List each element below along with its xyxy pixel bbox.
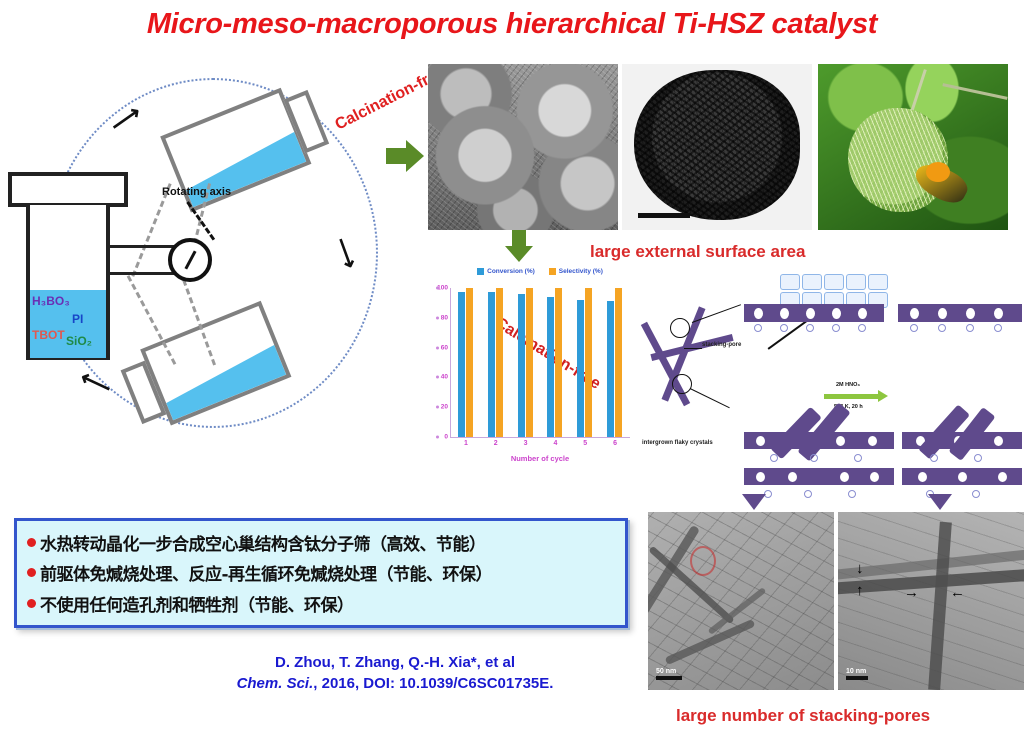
chart-bar-selectivity	[615, 288, 622, 437]
list-item: 不使用任何造孔剂和牺牲剂（节能、环保）	[27, 591, 615, 616]
tem-micrograph-hollow-nest	[622, 64, 812, 230]
chart-bar-group	[518, 288, 533, 437]
graphical-abstract: Micro-meso-macroporous hierarchical Ti-H…	[0, 0, 1024, 736]
rotating-axis-label: Rotating axis	[162, 186, 231, 198]
citation-details: , 2016, DOI: 10.1039/C6SC01735E.	[313, 675, 553, 692]
citation-journal: Chem. Sci.	[237, 675, 314, 692]
chevron-down-left-icon	[742, 494, 766, 510]
chart-plot-area: 020406080100123456	[450, 288, 630, 438]
chart-ytick-dot	[436, 346, 439, 349]
chart-bar-conversion	[458, 292, 465, 437]
tem-scale-bar	[638, 213, 690, 218]
legend-label-conversion: Conversion (%)	[487, 268, 535, 275]
tem-left-scale-bar	[656, 676, 682, 680]
chart-xtick-label: 5	[583, 440, 587, 447]
reagent-label-pi: PI	[72, 312, 83, 326]
citation-source: Chem. Sci., 2016, DOI: 10.1039/C6SC01735…	[150, 673, 640, 694]
reagent-label-sio2: SiO₂	[66, 334, 92, 348]
chart-ytick-label: 20	[441, 404, 448, 411]
bullet-dot-icon	[27, 599, 36, 608]
chart-ytick-label: 60	[441, 344, 448, 351]
reagent-reactor: H₃BO₃ PI TBOT SiO₂	[8, 172, 128, 362]
chart-bar-selectivity	[466, 288, 473, 437]
highlight-text-1: 水热转动晶化一步合成空心巢结构含钛分子筛（高效、节能）	[40, 530, 486, 555]
chevron-down-right-icon	[928, 494, 952, 510]
chart-ytick-label: 40	[441, 374, 448, 381]
weaver-bird-nest-photo	[818, 64, 1008, 230]
chart-bar-group	[488, 288, 503, 437]
bullet-dot-icon	[27, 568, 36, 577]
rotary-crystallization-schematic: ⟶ ⟶ ⟶ Rotating axis H₃BO₃	[0, 60, 420, 510]
rotating-axis-hub	[168, 238, 212, 282]
chart-bar-conversion	[547, 297, 554, 437]
citation-authors: D. Zhou, T. Zhang, Q.-H. Xia*, et al	[150, 652, 640, 673]
acid-reagent-label: 2M HNO₃	[836, 382, 860, 388]
page-title: Micro-meso-macroporous hierarchical Ti-H…	[0, 8, 1024, 41]
legend-label-selectivity: Selectivity (%)	[559, 268, 603, 275]
layered-slab-upper-left	[744, 304, 884, 332]
chart-bar-selectivity	[526, 288, 533, 437]
chart-xtick-label: 3	[524, 440, 528, 447]
tem-right-scale-bar	[846, 676, 868, 680]
legend-swatch-conversion	[477, 268, 484, 275]
chart-bar-conversion	[518, 294, 525, 437]
intergrown-flaky-crystal-cluster	[646, 304, 736, 414]
sem-micrograph-hollow-spheres	[428, 64, 618, 230]
caption-large-external-surface-area: large external surface area	[590, 242, 805, 262]
chart-xaxis-label: Number of cycle	[450, 454, 630, 463]
chart-bar-group	[458, 288, 473, 437]
tem-left-scale-text: 50 nm	[656, 668, 676, 675]
chart-ytick-label: 80	[441, 314, 448, 321]
chart-ytick-dot	[436, 376, 439, 379]
chart-bar-group	[547, 288, 562, 437]
chart-xtick-label: 6	[613, 440, 617, 447]
reagent-label-tbot: TBOT	[32, 328, 65, 342]
chart-bar-group	[577, 288, 592, 437]
reagent-label-h3bo3: H₃BO₃	[32, 294, 70, 308]
reactor-head	[8, 172, 128, 207]
chart-bar-group	[607, 288, 622, 437]
caption-stacking-pores: large number of stacking-pores	[676, 706, 930, 726]
list-item: 水热转动晶化一步合成空心巢结构含钛分子筛（高效、节能）	[27, 530, 615, 555]
legend-item-conversion: Conversion (%)	[477, 268, 535, 275]
chart-ytick-dot	[436, 287, 439, 290]
bullet-dot-icon	[27, 538, 36, 547]
legend-swatch-selectivity	[549, 268, 556, 275]
chart-xtick-label: 1	[464, 440, 468, 447]
highlights-box: 水热转动晶化一步合成空心巢结构含钛分子筛（高效、节能） 前驱体免煘烧处理、反应-…	[14, 518, 628, 628]
chart-xtick-label: 4	[553, 440, 557, 447]
chart-xtick-label: 2	[494, 440, 498, 447]
crystal-structure-schematic: stacking-pore intergrown flaky crystals	[640, 270, 1024, 505]
chart-legend: Conversion (%) Selectivity (%)	[442, 268, 638, 275]
recycling-performance-chart: Conversion (%) Selectivity (%) 020406080…	[424, 268, 636, 473]
highlight-text-3: 不使用任何造孔剂和牺牲剂（节能、环保）	[40, 591, 354, 616]
layered-stack-lower-right	[902, 410, 1022, 496]
chart-ytick-dot	[436, 316, 439, 319]
legend-item-selectivity: Selectivity (%)	[549, 268, 603, 275]
highlight-text-2: 前驱体免煘烧处理、反应-再生循环免煘烧处理（节能、环保）	[40, 560, 492, 585]
chart-bar-selectivity	[555, 288, 562, 437]
chart-bar-conversion	[488, 292, 495, 437]
acid-arrow-shaft	[824, 394, 880, 399]
stacking-pore-label: stacking-pore	[702, 342, 741, 348]
flaky-crystals-label: intergrown flaky crystals	[642, 440, 713, 446]
citation: D. Zhou, T. Zhang, Q.-H. Xia*, et al Che…	[150, 652, 640, 694]
list-item: 前驱体免煘烧处理、反应-再生循环免煘烧处理（节能、环保）	[27, 560, 615, 585]
chart-ytick-label: 0	[444, 434, 448, 441]
chart-bar-conversion	[577, 300, 584, 437]
tem-micrograph-flakes-left: 50 nm	[648, 512, 834, 690]
stacking-pore-arrow	[684, 348, 702, 349]
tem-micrograph-flakes-right: ↓ ↑ → ← 10 nm	[838, 512, 1024, 690]
chart-ytick-dot	[436, 436, 439, 439]
acid-arrow-head	[878, 390, 888, 402]
chart-bar-selectivity	[585, 288, 592, 437]
chart-bar-selectivity	[496, 288, 503, 437]
chart-ytick-dot	[436, 406, 439, 409]
layered-stack-lower-left	[744, 410, 894, 496]
layered-slab-upper-right	[898, 304, 1022, 332]
chart-bar-conversion	[607, 301, 614, 437]
tem-right-scale-text: 10 nm	[846, 668, 866, 675]
